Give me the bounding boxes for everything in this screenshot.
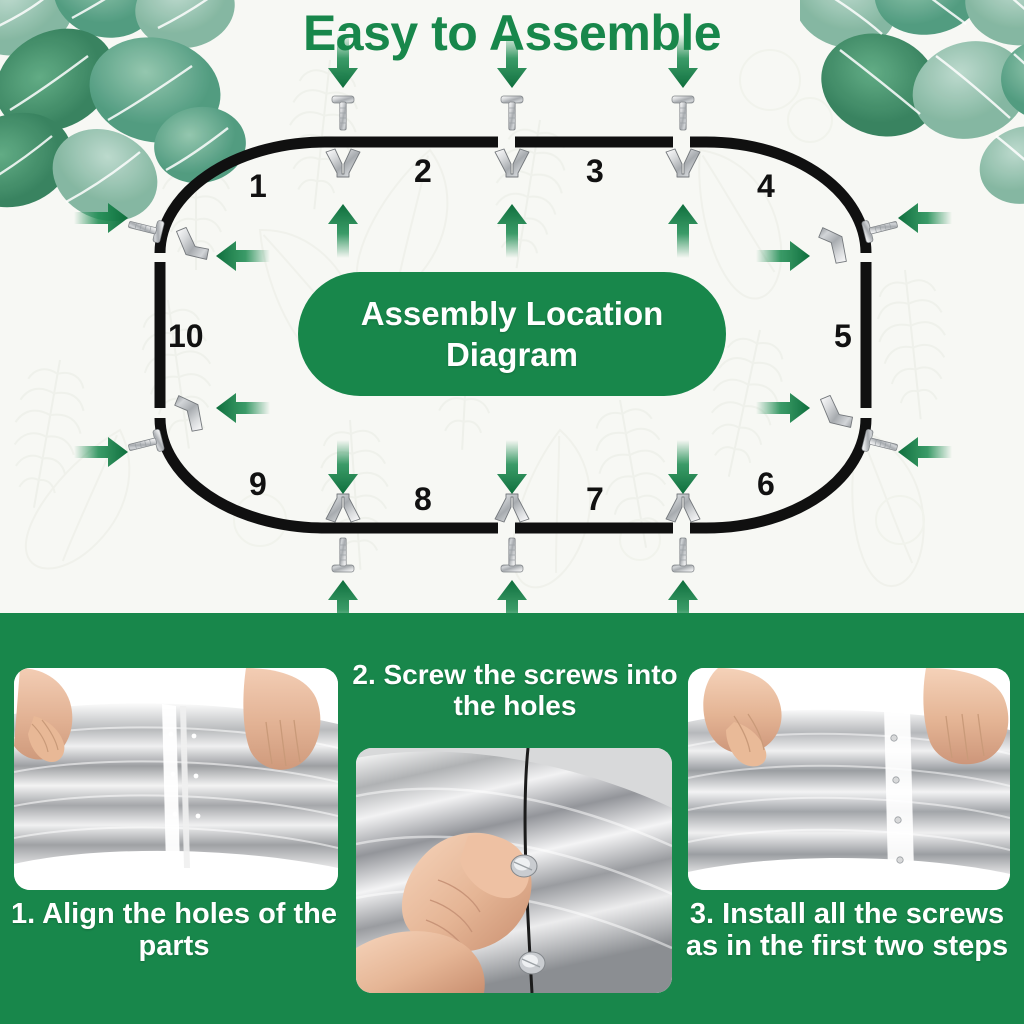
assembly-location-badge: Assembly Location Diagram	[298, 272, 726, 396]
segment-label-7: 7	[586, 481, 604, 518]
assembly-diagram-panel: Easy to Assemble	[0, 0, 1024, 613]
screw-icon	[332, 96, 354, 130]
segment-label-9: 9	[249, 466, 267, 503]
segment-label-1: 1	[249, 168, 267, 205]
segment-label-4: 4	[757, 168, 775, 205]
badge-line-2: Diagram	[361, 334, 664, 375]
page-title: Easy to Assemble	[0, 4, 1024, 62]
step-2-caption: 2. Screw the screws into the holes	[350, 659, 680, 722]
segment-label-8: 8	[414, 481, 432, 518]
wing-nut-icon	[326, 149, 360, 177]
assembly-steps-panel: 1. Align the holes of the parts 2. Screw…	[0, 613, 1024, 1024]
segment-label-6: 6	[757, 466, 775, 503]
step-1-caption: 1. Align the holes of the parts	[4, 898, 344, 963]
step-3-photo	[688, 668, 1010, 890]
badge-line-1: Assembly Location	[361, 293, 664, 334]
screw-head-icon	[511, 855, 537, 877]
up-arrow-icon	[328, 204, 358, 258]
segment-label-3: 3	[586, 153, 604, 190]
step-2-photo	[356, 748, 672, 993]
badge-text: Assembly Location Diagram	[361, 293, 664, 375]
step-3-caption: 3. Install all the screws as in the firs…	[672, 898, 1022, 963]
segment-label-5: 5	[834, 318, 852, 355]
segment-label-10: 10	[168, 318, 204, 355]
segment-label-2: 2	[414, 153, 432, 190]
product-infographic: Easy to Assemble	[0, 0, 1024, 1024]
screw-lower-icon	[519, 952, 545, 974]
step-1-photo	[14, 668, 338, 890]
